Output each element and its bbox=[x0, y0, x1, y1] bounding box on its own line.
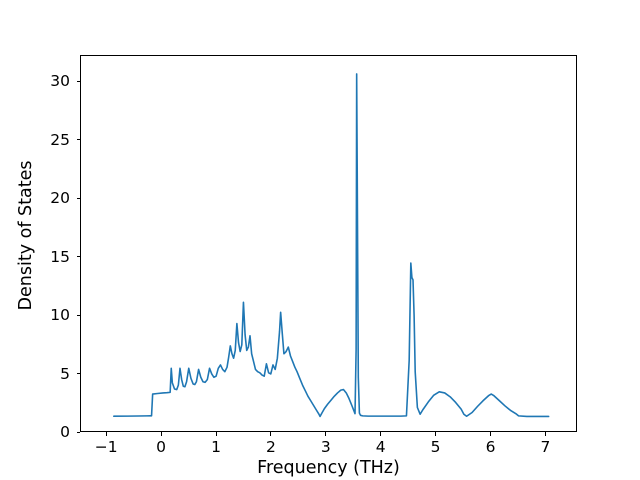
y-tick-mark bbox=[77, 432, 81, 433]
x-tick-label: 2 bbox=[241, 438, 301, 456]
y-tick-mark bbox=[77, 315, 81, 316]
y-axis-title: Density of States bbox=[16, 47, 36, 424]
y-tick-mark bbox=[77, 198, 81, 199]
x-tick-label: 0 bbox=[131, 438, 191, 456]
x-tick-mark bbox=[435, 432, 436, 436]
x-tick-mark bbox=[216, 432, 217, 436]
y-tick-mark bbox=[77, 81, 81, 82]
x-tick-label: 4 bbox=[351, 438, 411, 456]
x-tick-mark bbox=[380, 432, 381, 436]
x-tick-mark bbox=[325, 432, 326, 436]
x-tick-label: −1 bbox=[76, 438, 136, 456]
x-axis-title: Frequency (THz) bbox=[80, 458, 577, 478]
y-tick-mark bbox=[77, 256, 81, 257]
x-tick-mark bbox=[490, 432, 491, 436]
x-tick-mark bbox=[270, 432, 271, 436]
x-tick-label: 5 bbox=[406, 438, 466, 456]
x-tick-mark bbox=[545, 432, 546, 436]
figure-canvas: −1 0 1 2 3 4 5 6 7 0 5 10 15 20 25 30 Fr… bbox=[0, 0, 640, 480]
x-tick-mark bbox=[106, 432, 107, 436]
dos-line-series bbox=[81, 56, 576, 431]
x-tick-label: 1 bbox=[186, 438, 246, 456]
x-tick-label: 7 bbox=[515, 438, 575, 456]
density-of-states-polyline bbox=[114, 74, 549, 417]
x-tick-mark bbox=[161, 432, 162, 436]
x-tick-label: 3 bbox=[296, 438, 356, 456]
x-tick-label: 6 bbox=[461, 438, 521, 456]
y-tick-label: 0 bbox=[0, 424, 70, 440]
y-tick-mark bbox=[77, 139, 81, 140]
y-tick-mark bbox=[77, 373, 81, 374]
plot-axes-area bbox=[80, 55, 577, 432]
